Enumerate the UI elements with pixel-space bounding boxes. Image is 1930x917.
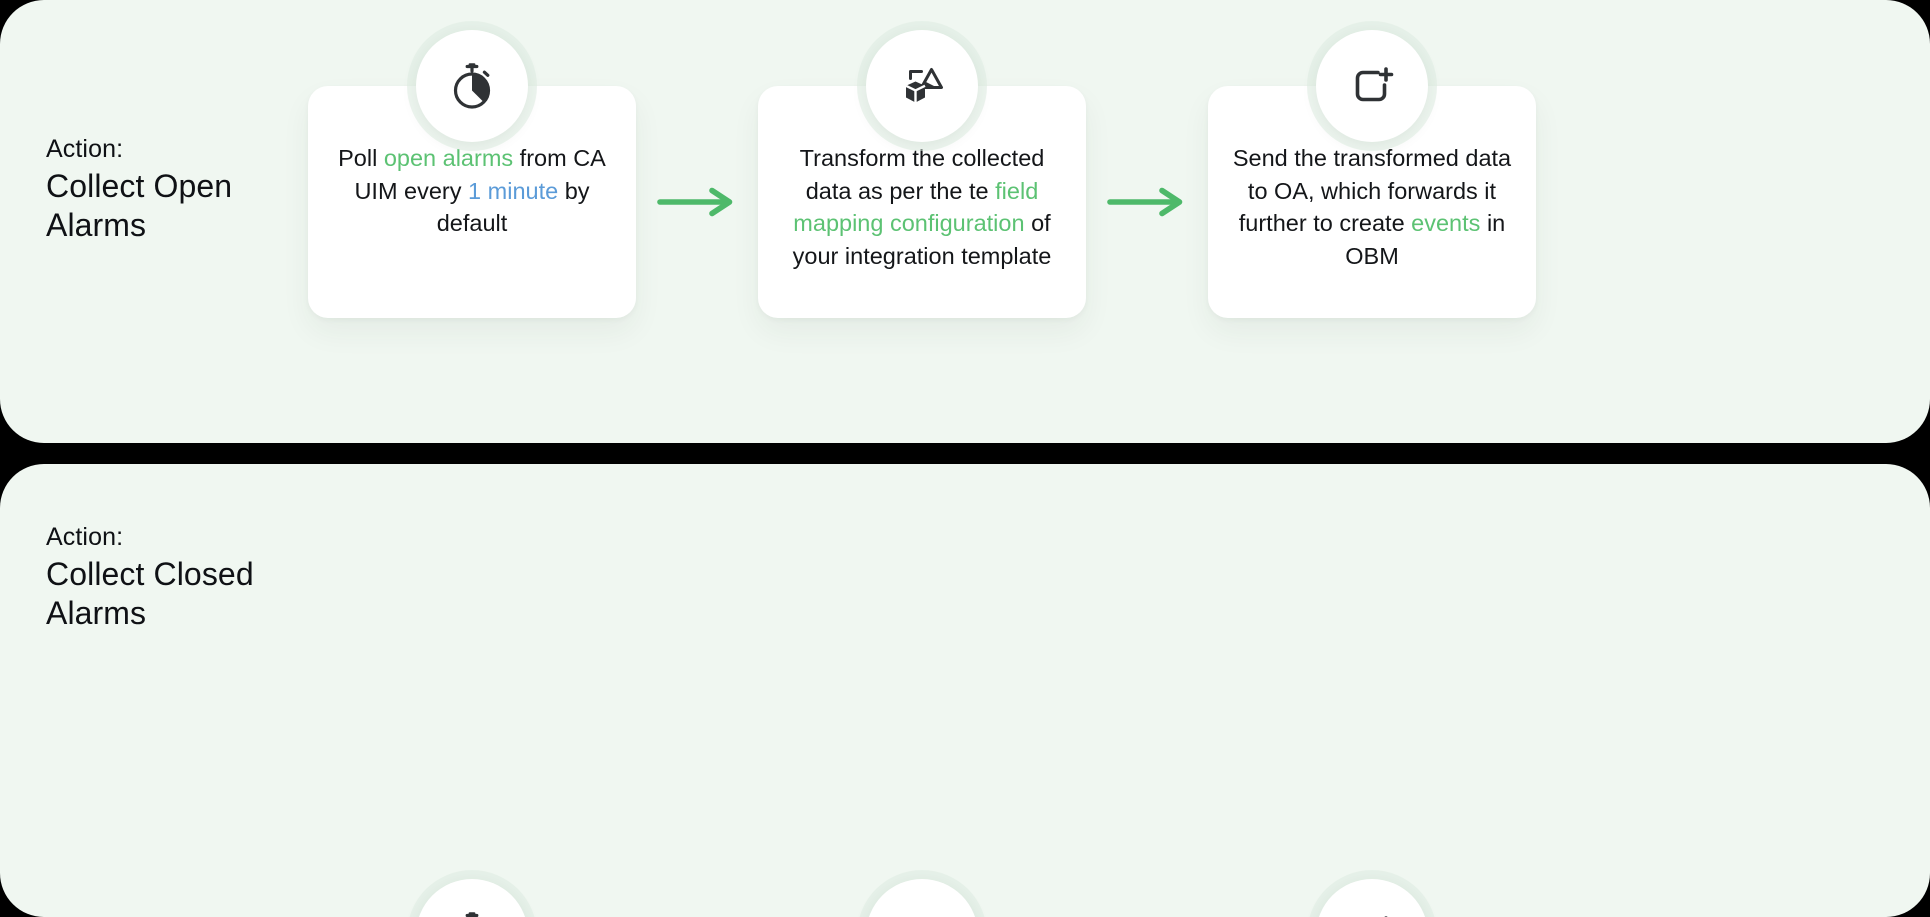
arrow-right-icon — [1086, 86, 1208, 318]
stopwatch-icon — [416, 879, 528, 917]
text-segment: Poll — [338, 145, 384, 171]
text-segment: events — [1411, 210, 1480, 236]
arrow-right-icon — [636, 86, 758, 318]
text-segment: open alarms — [384, 145, 513, 171]
flow-steps-closed-alarms: Poll closed alarms from CA UIM every 1 m… — [308, 464, 1536, 917]
action-kicker: Action: — [46, 522, 296, 553]
flow-row-open-alarms: Action: Collect Open Alarms — [0, 0, 1930, 443]
diagram-canvas: Action: Collect Open Alarms — [0, 0, 1930, 917]
flow-row-closed-alarms: Action: Collect Closed Alarms — [0, 464, 1930, 917]
action-title: Collect Open Alarms — [46, 167, 296, 244]
action-kicker: Action: — [46, 134, 296, 165]
create-new-icon — [1316, 30, 1428, 142]
step-card-text: Poll open alarms from CA UIM every 1 min… — [326, 142, 618, 240]
action-title: Collect Closed Alarms — [46, 555, 296, 632]
transform-shapes-icon — [866, 879, 978, 917]
transform-shapes-icon — [866, 30, 978, 142]
text-segment: 1 minute — [468, 178, 558, 204]
action-label-open-alarms: Action: Collect Open Alarms — [46, 134, 296, 244]
create-new-icon — [1316, 879, 1428, 917]
step-card-text: Transform the collected data as per the … — [776, 142, 1068, 273]
flow-steps-open-alarms: Poll open alarms from CA UIM every 1 min… — [308, 30, 1536, 318]
step-card-text: Send the transformed data to OA, which f… — [1226, 142, 1518, 273]
stopwatch-icon — [416, 30, 528, 142]
action-label-closed-alarms: Action: Collect Closed Alarms — [46, 522, 296, 632]
